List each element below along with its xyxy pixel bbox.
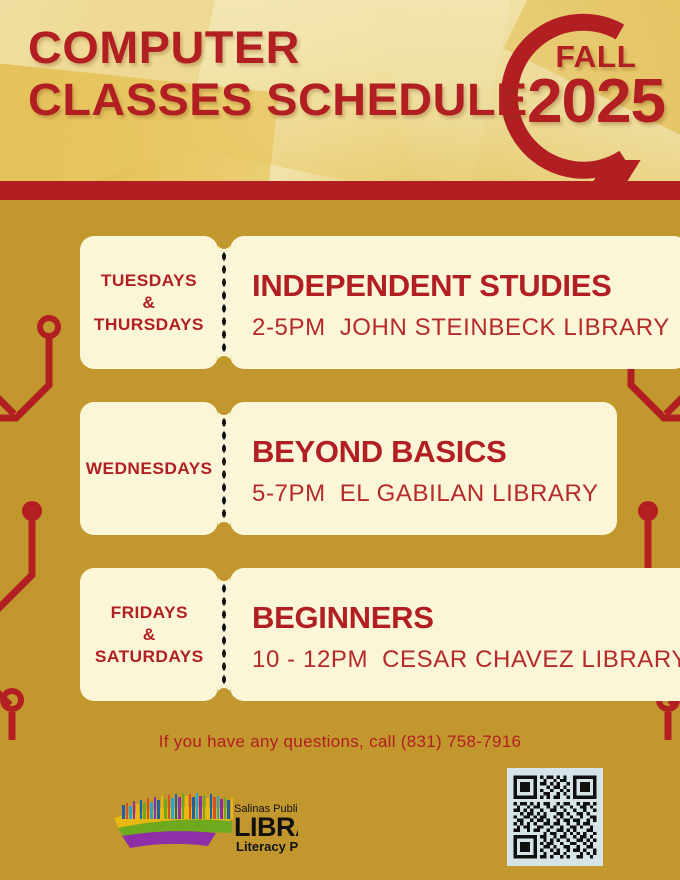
page-title: COMPUTER CLASSES SCHEDULE — [28, 22, 528, 126]
class-days-panel: TUESDAYS & THURSDAYS — [80, 236, 218, 369]
page-title-line-2: CLASSES SCHEDULE — [28, 74, 528, 126]
library-logo: Salinas Public LIBRARY Literacy Program — [108, 788, 298, 856]
divider-notch-bottom — [217, 522, 231, 535]
class-info-panel: INDEPENDENT STUDIES 2-5PMJOHN STEINBECK … — [230, 236, 680, 369]
class-name: INDEPENDENT STUDIES — [252, 268, 670, 304]
divider-notch-bottom — [217, 356, 231, 369]
logo-main-line: LIBRARY — [234, 812, 298, 842]
class-name: BEGINNERS — [252, 600, 680, 636]
divider-dots-icon — [221, 416, 227, 521]
class-days-label: TUESDAYS & THURSDAYS — [94, 270, 204, 336]
logo-bottom-line: Literacy Program — [236, 839, 298, 854]
class-card-divider — [218, 402, 230, 535]
class-detail: 2-5PMJOHN STEINBECK LIBRARY — [252, 314, 670, 342]
class-schedule-list: TUESDAYS & THURSDAYS INDEPENDENT STUDIES… — [80, 236, 613, 734]
class-card-divider — [218, 568, 230, 701]
qr-code[interactable] — [507, 768, 603, 866]
class-card-divider — [218, 236, 230, 369]
class-days-label: WEDNESDAYS — [86, 458, 213, 480]
class-detail: 5-7PMEL GABILAN LIBRARY — [252, 480, 599, 508]
class-info-panel: BEGINNERS 10 - 12PMCESAR CHAVEZ LIBRARY — [230, 568, 680, 701]
class-location: JOHN STEINBECK LIBRARY — [340, 314, 670, 341]
class-card[interactable]: FRIDAYS & SATURDAYS BEGINNERS 10 - 12PMC… — [80, 568, 613, 701]
season-badge: FALL 2025 — [516, 42, 676, 132]
class-detail: 10 - 12PMCESAR CHAVEZ LIBRARY — [252, 646, 680, 674]
header-divider-band — [0, 181, 680, 200]
class-location: EL GABILAN LIBRARY — [340, 480, 599, 507]
poster: COMPUTER CLASSES SCHEDULE FALL 2025 — [0, 0, 680, 880]
season-year: 2025 — [514, 72, 679, 132]
class-time: 5-7PM — [252, 480, 326, 507]
class-info-panel: BEYOND BASICS 5-7PMEL GABILAN LIBRARY — [230, 402, 617, 535]
class-location: CESAR CHAVEZ LIBRARY — [382, 646, 680, 673]
class-card[interactable]: WEDNESDAYS BEYOND BASICS 5-7PMEL GABILAN… — [80, 402, 613, 535]
class-time: 2-5PM — [252, 314, 326, 341]
class-days-label: FRIDAYS & SATURDAYS — [95, 602, 204, 668]
class-time: 10 - 12PM — [252, 646, 368, 673]
class-card[interactable]: TUESDAYS & THURSDAYS INDEPENDENT STUDIES… — [80, 236, 613, 369]
divider-notch-bottom — [217, 688, 231, 701]
class-name: BEYOND BASICS — [252, 434, 599, 470]
divider-dots-icon — [221, 250, 227, 355]
divider-dots-icon — [221, 582, 227, 687]
class-days-panel: FRIDAYS & SATURDAYS — [80, 568, 218, 701]
page-title-line-1: COMPUTER — [28, 22, 528, 74]
class-days-panel: WEDNESDAYS — [80, 402, 218, 535]
contact-info: If you have any questions, call (831) 75… — [0, 732, 680, 752]
